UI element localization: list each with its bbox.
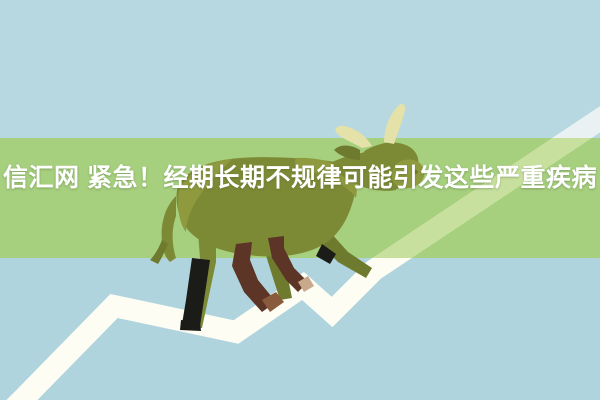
bull-nostril xyxy=(412,170,418,174)
illustration-canvas xyxy=(0,0,600,400)
upper-blue-band xyxy=(0,0,600,138)
cover-image: 信汇网 紧急！经期长期不规律可能引发这些严重疾病 xyxy=(0,0,600,400)
